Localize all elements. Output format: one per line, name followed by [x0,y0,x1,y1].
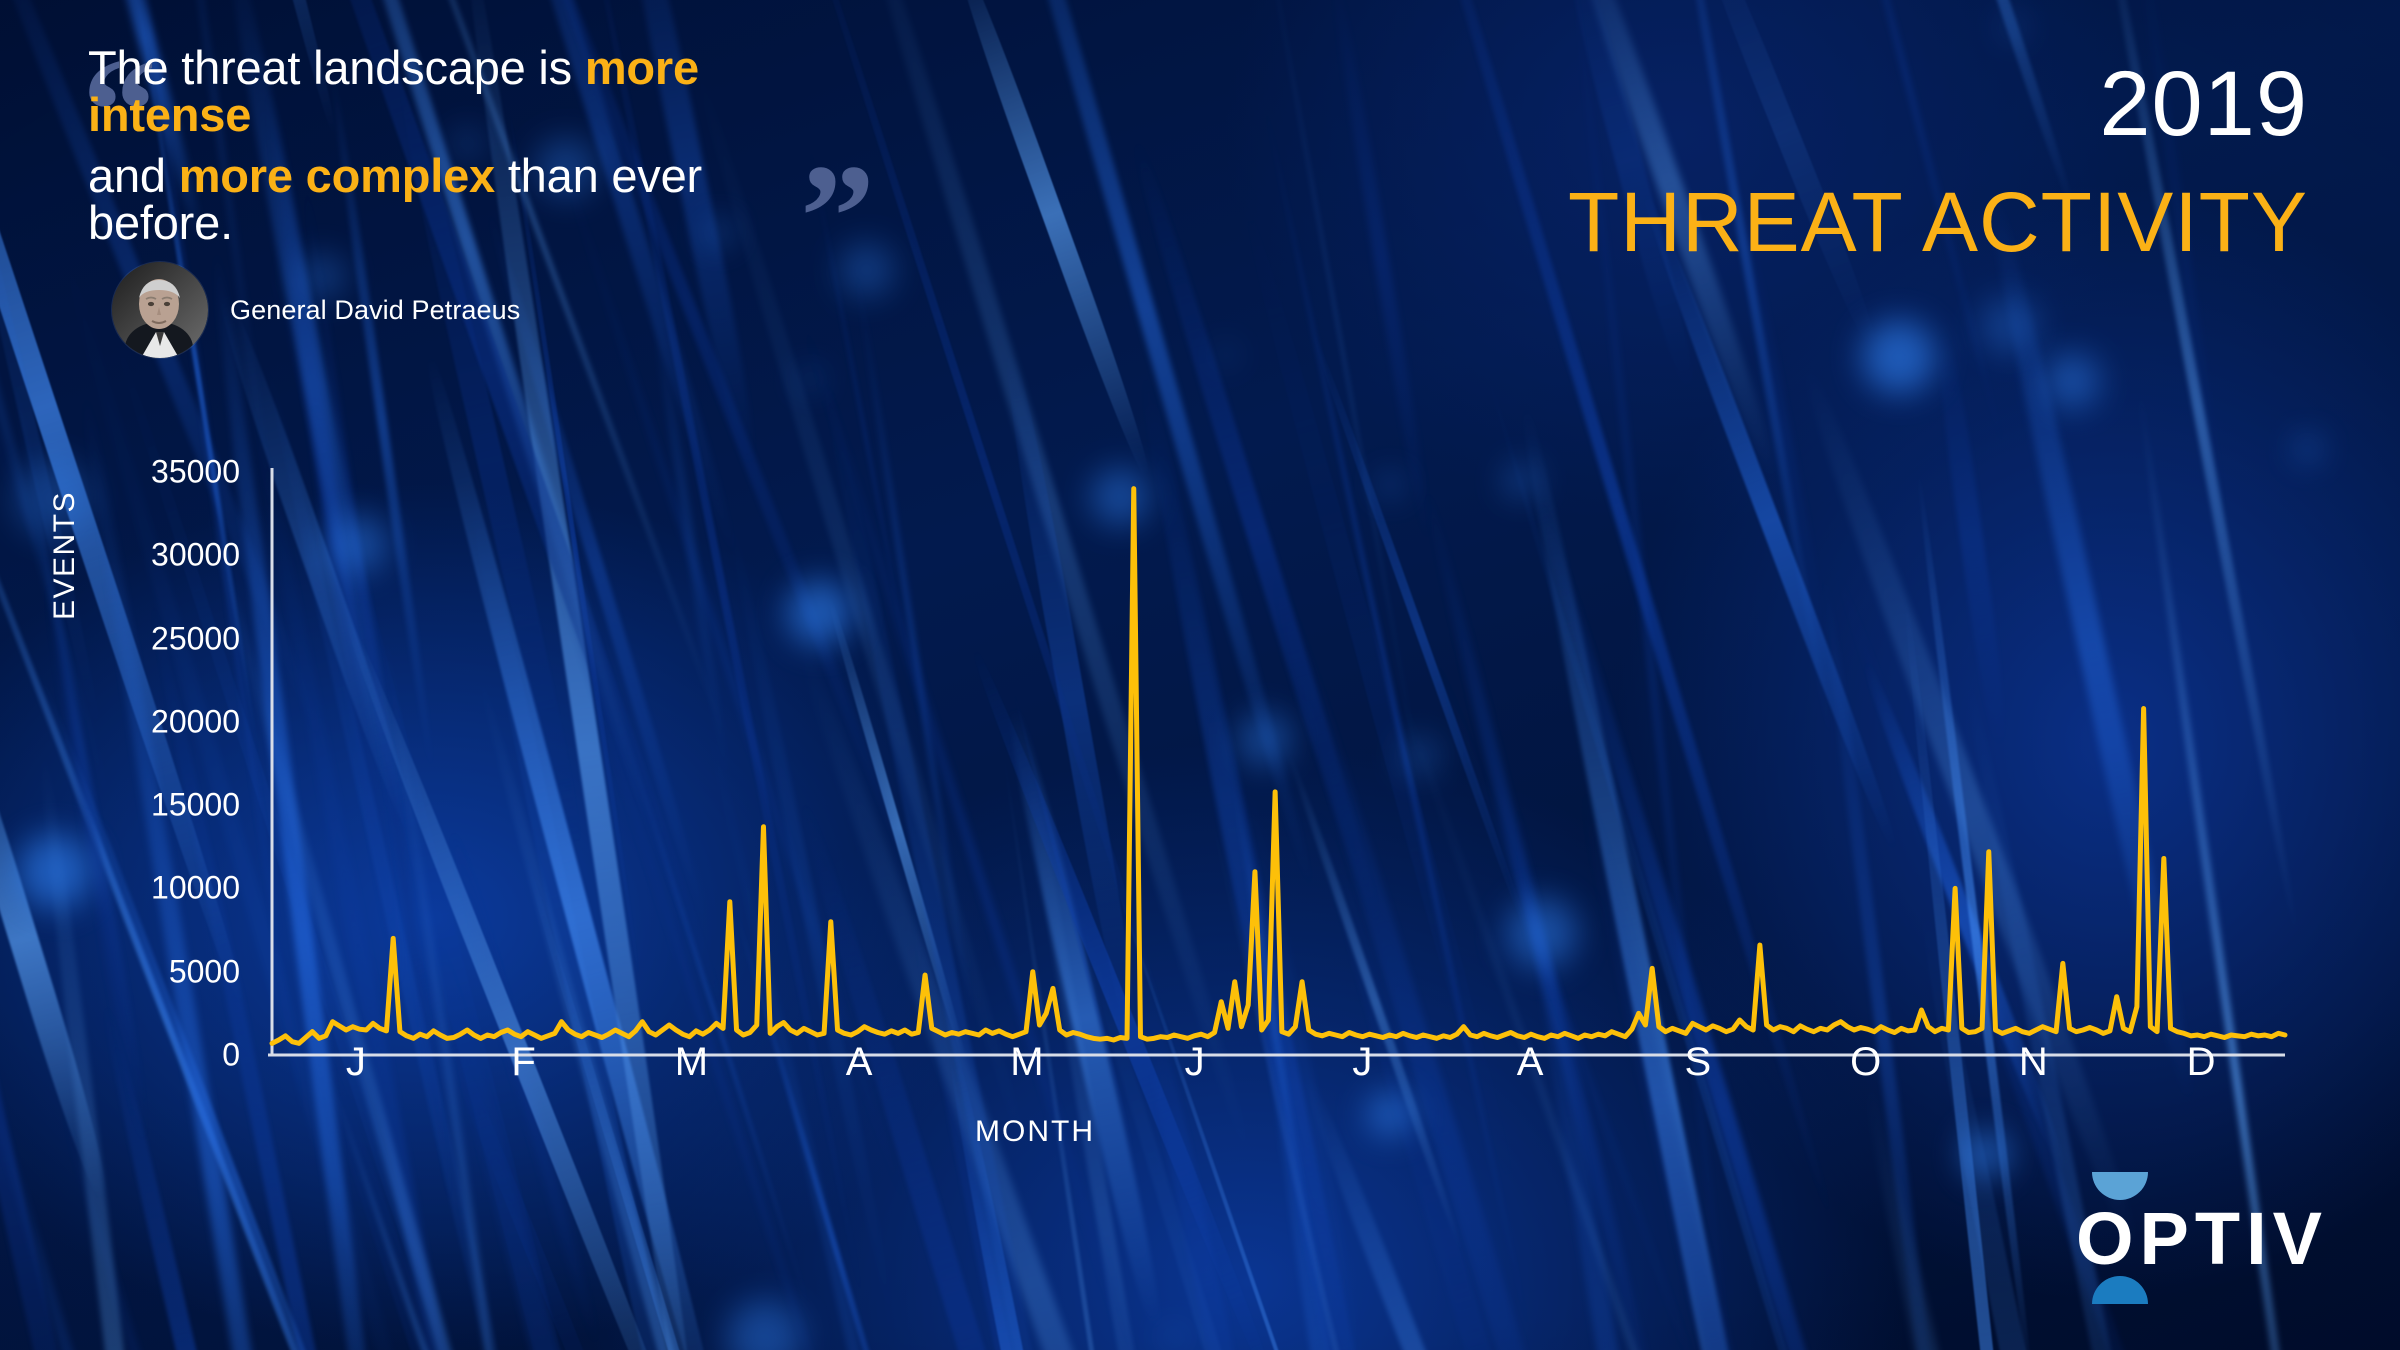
quote-attribution: General David Petraeus [112,262,520,358]
x-tick-label-m-2: M [675,1040,708,1085]
logo-arc-top-icon [2092,1172,2148,1200]
quote-line-1: The threat landscape is more intense [88,44,848,138]
x-tick-label-a-3: A [846,1040,873,1085]
quote-line-1-plain: The threat landscape is [88,41,585,94]
logo-arc-bottom-icon [2092,1276,2148,1304]
x-tick-label-d-11: D [2187,1040,2216,1085]
portrait-icon [112,262,208,358]
events-series-line [272,489,2285,1044]
x-axis-title: MONTH [0,1115,2400,1149]
optiv-logo[interactable]: OPTIV [2070,1160,2338,1316]
quote-line-2: and more complex than ever before. [88,152,848,246]
x-tick-label-a-7: A [1517,1040,1544,1085]
page-title: THREAT ACTIVITY [1568,180,2308,264]
quote-block: “ ” The threat landscape is more intense… [88,44,848,246]
x-axis-title-text: MONTH [975,1115,1095,1149]
x-tick-label-m-4: M [1010,1040,1043,1085]
x-tick-label-j-6: J [1352,1040,1372,1085]
x-tick-label-j-5: J [1185,1040,1205,1085]
x-tick-label-s-8: S [1685,1040,1712,1085]
x-tick-label-o-9: O [1850,1040,1881,1085]
x-tick-label-n-10: N [2019,1040,2048,1085]
chart-plot-area [0,430,2400,1130]
quote-line-2-plain-a: and [88,149,179,202]
x-tick-label-f-1: F [511,1040,535,1085]
quote-line-2-highlight: more complex [179,149,495,202]
logo-wordmark: OPTIV [2076,1197,2328,1280]
poster-canvas: “ ” The threat landscape is more intense… [0,0,2400,1350]
x-tick-label-j-0: J [346,1040,366,1085]
year-label: 2019 [2099,58,2308,150]
optiv-logo-mark: OPTIV [2070,1160,2338,1316]
avatar [112,262,208,358]
threat-activity-chart: 05000100001500020000250003000035000 [0,430,2400,1130]
y-axis-title: EVENTS [48,491,82,620]
x-axis-ticks: JFMAMJJASOND [0,1040,2400,1100]
attribution-name: General David Petraeus [230,295,520,326]
